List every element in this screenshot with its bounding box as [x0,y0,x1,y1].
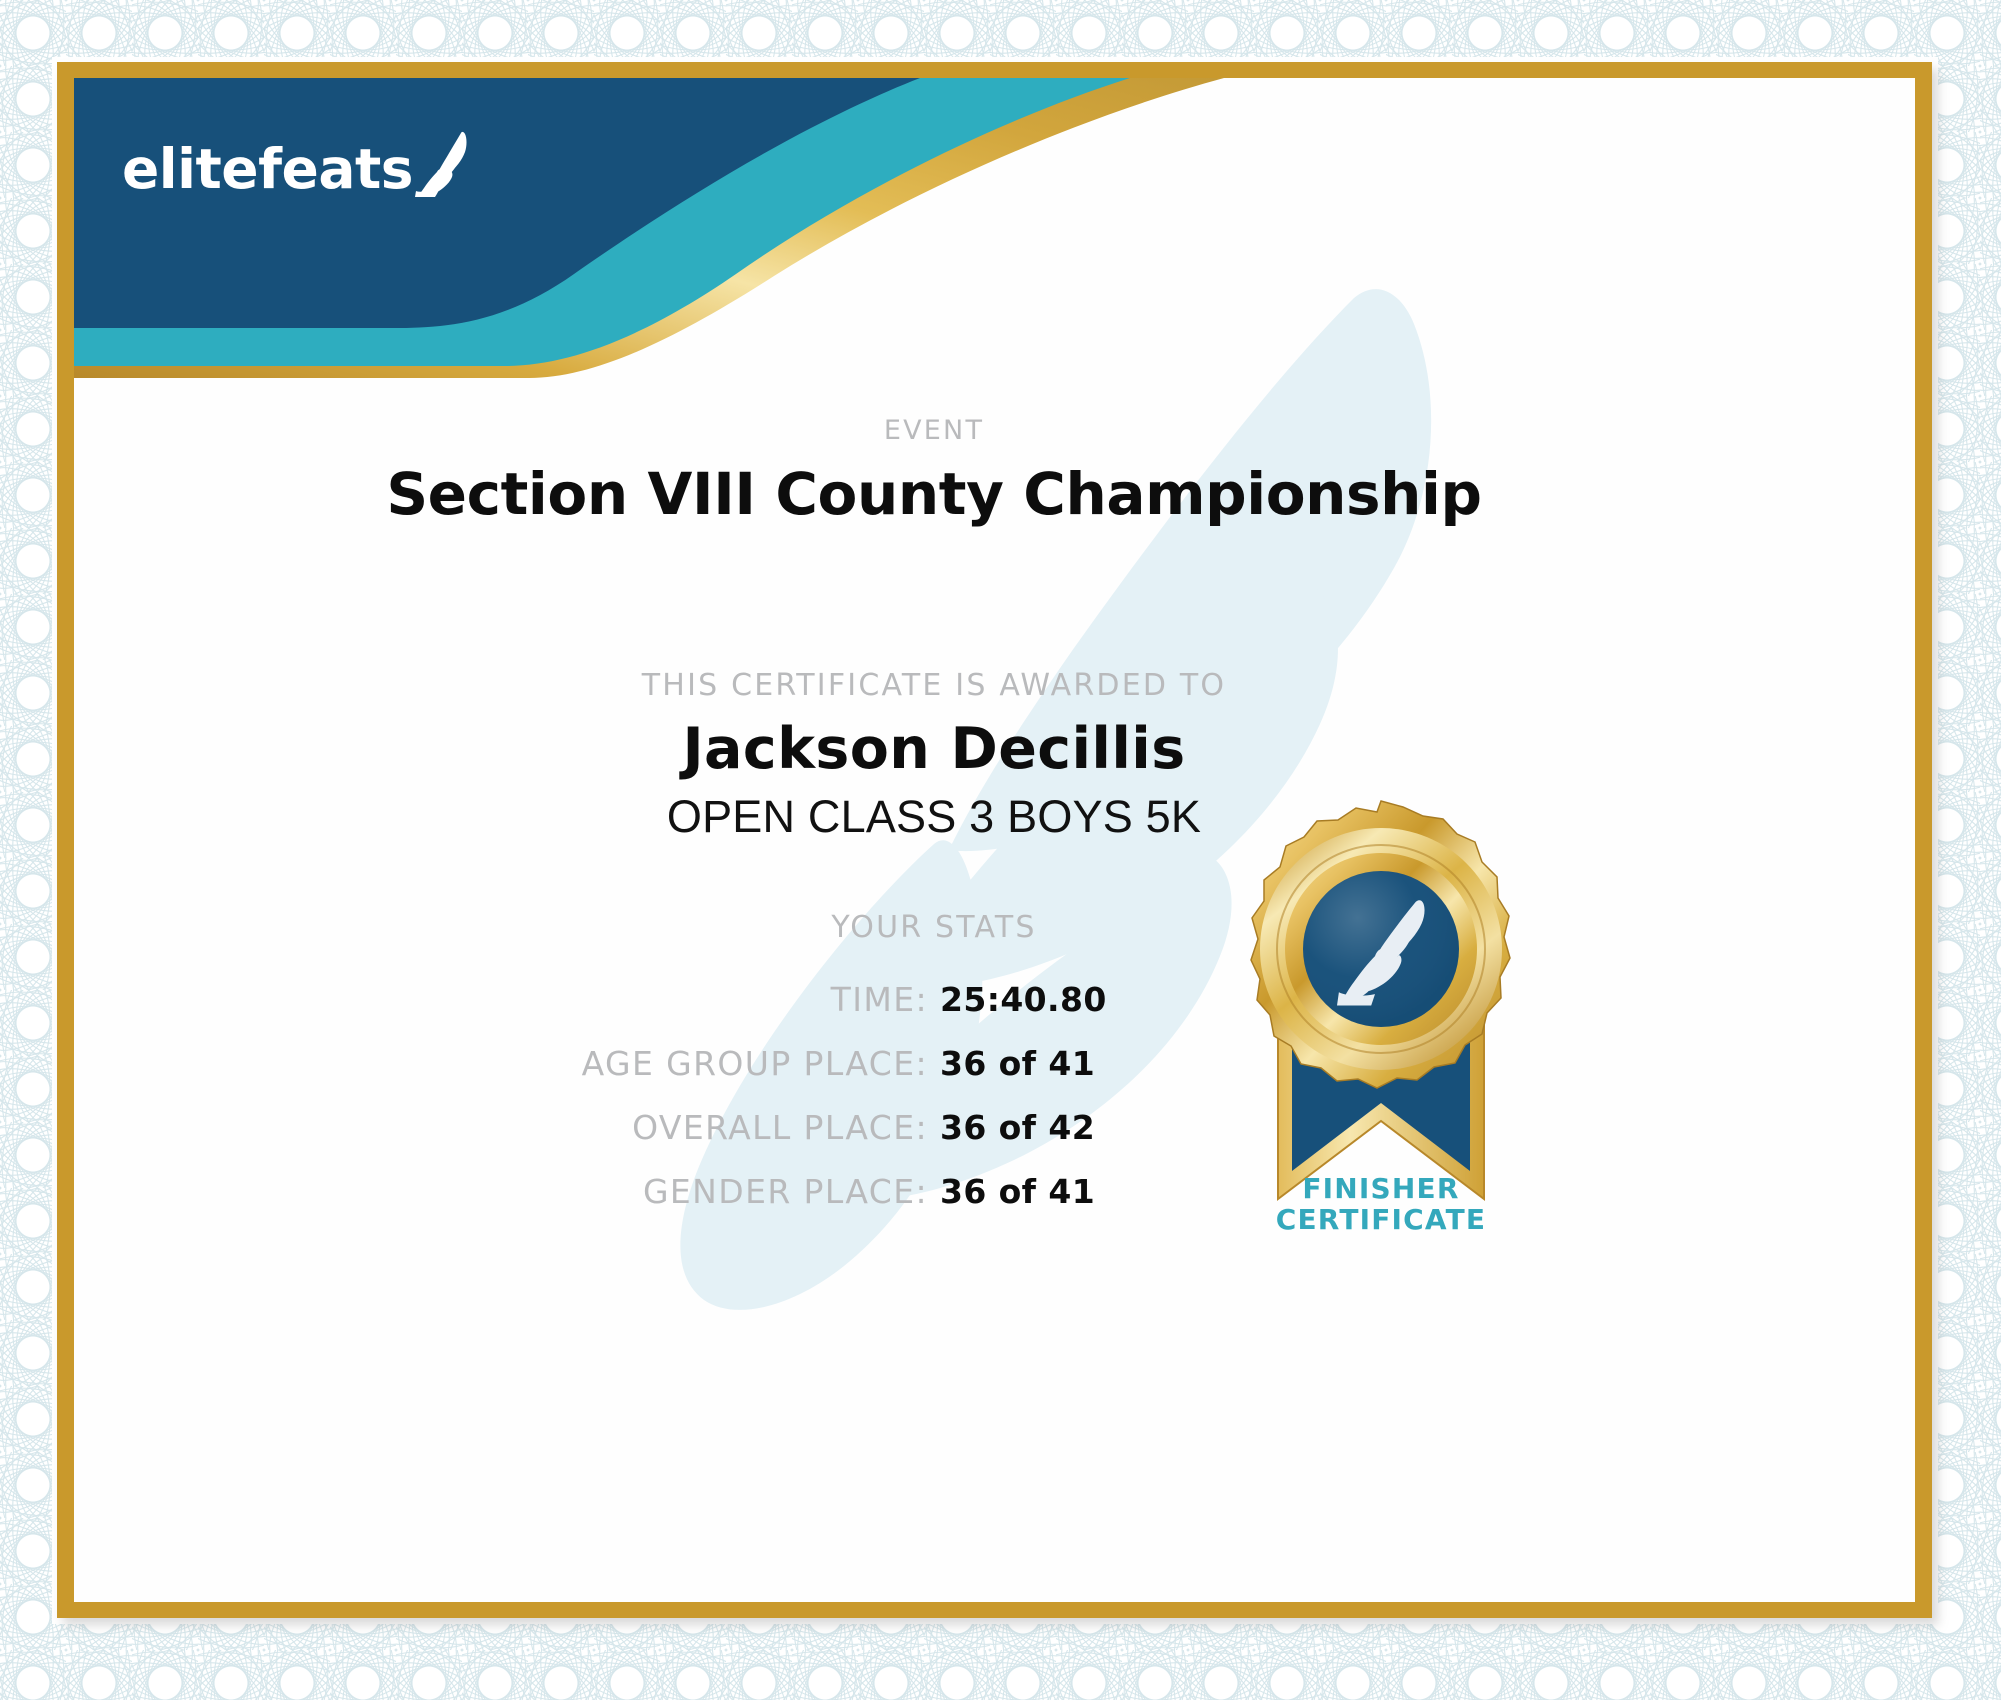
brand-logo: elitefeats [122,133,473,205]
certificate-card: elitefeats EVENT Section VIII County Cha… [57,62,1932,1618]
certificate-page: elitefeats EVENT Section VIII County Cha… [0,0,2001,1700]
stat-label: AGE GROUP PLACE: [488,1044,928,1083]
medal-caption: FINISHER CERTIFICATE [1216,1173,1546,1236]
certificate-inner: elitefeats EVENT Section VIII County Cha… [74,78,1915,1602]
stat-label: TIME: [488,980,928,1019]
event-title: Section VIII County Championship [74,460,1794,528]
stat-label: OVERALL PLACE: [488,1108,928,1147]
medal-caption-line-1: FINISHER [1216,1173,1546,1204]
brand-wordmark: elitefeats [122,142,413,197]
event-kicker-label: EVENT [74,415,1794,446]
medal-caption-line-2: CERTIFICATE [1216,1204,1546,1235]
awarded-to-label: THIS CERTIFICATE IS AWARDED TO [74,668,1794,703]
recipient-name: Jackson Decillis [74,716,1794,782]
stat-label: GENDER PLACE: [488,1172,928,1211]
header-swoosh-graphic [74,78,1224,378]
winged-foot-icon [415,131,473,197]
